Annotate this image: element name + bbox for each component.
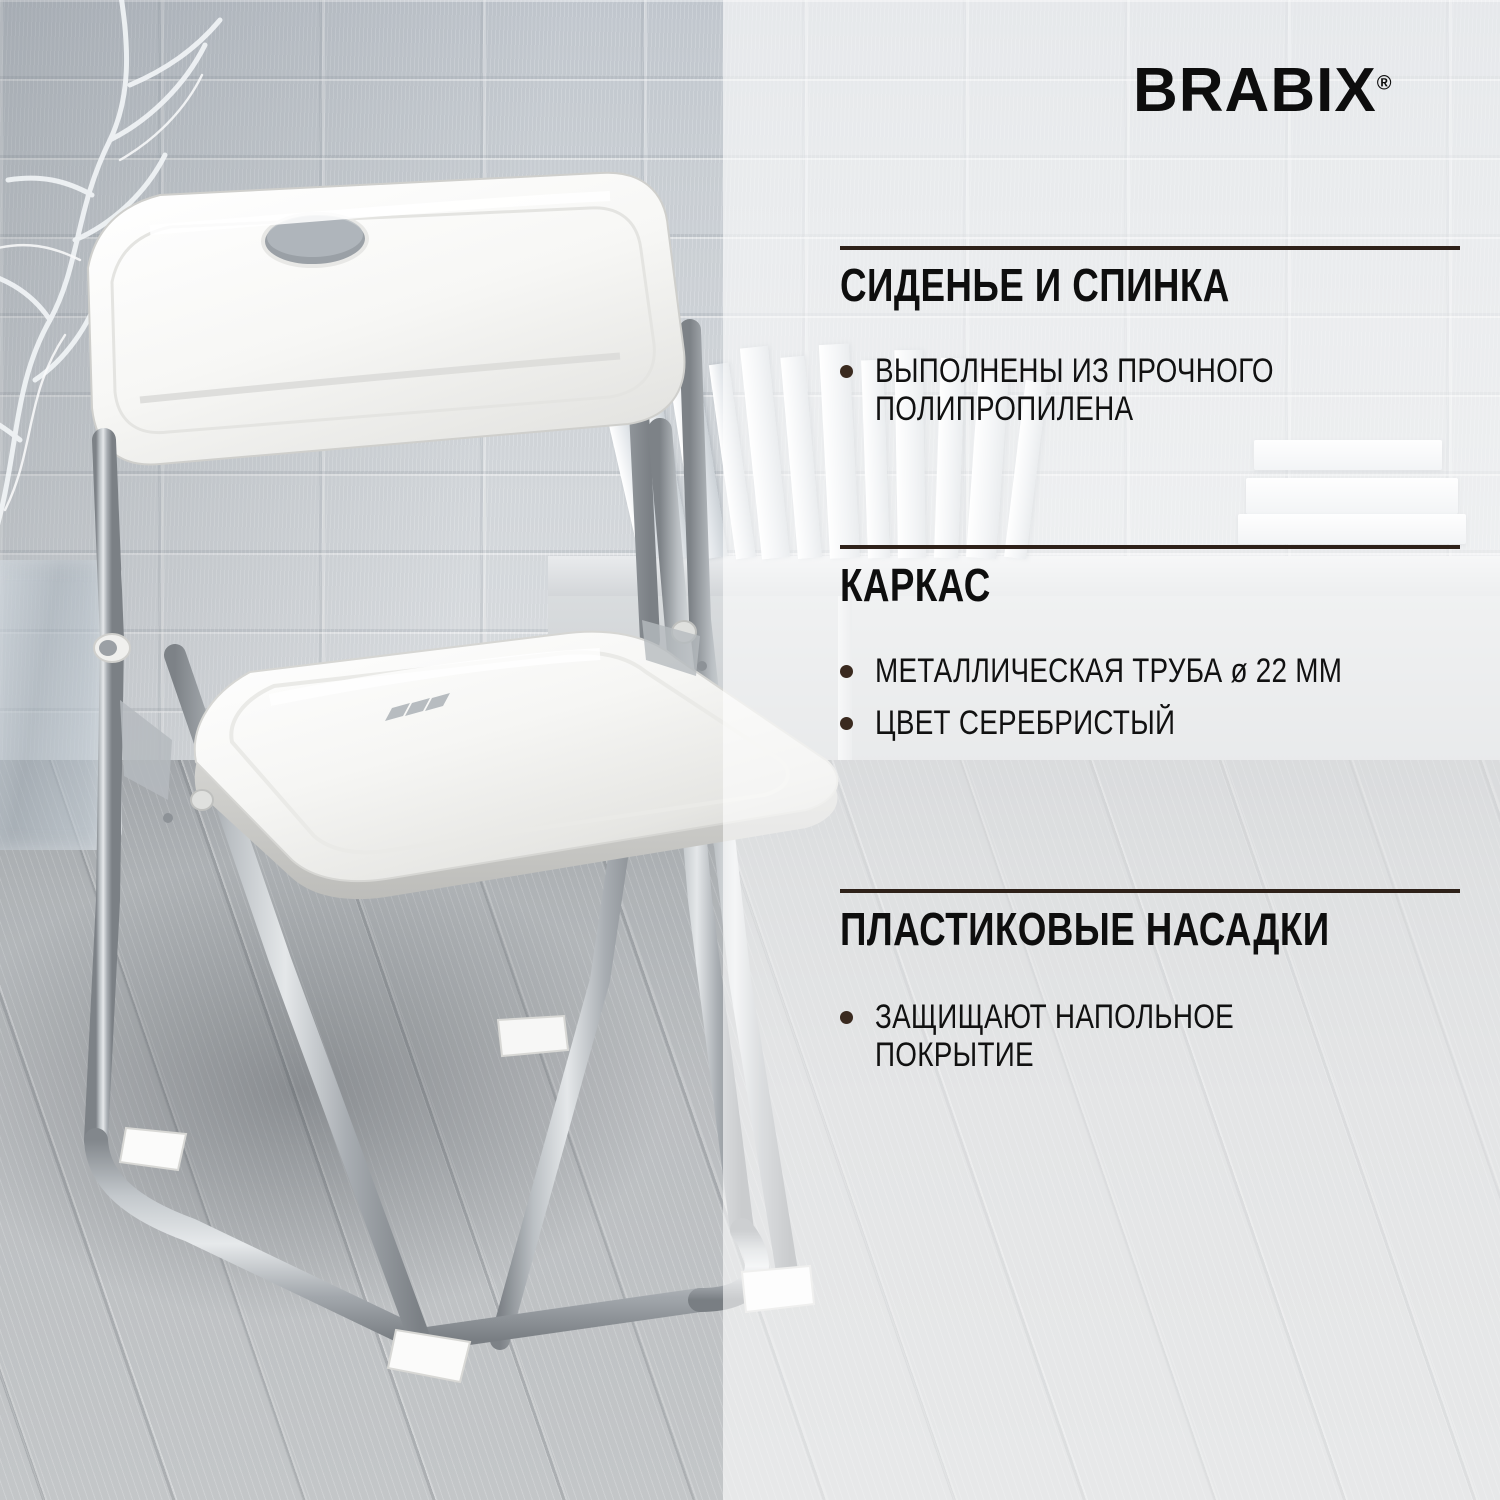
bullet-item: ЗАЩИЩАЮТ НАПОЛЬНОЕ ПОКРЫТИЕ [840,998,1500,1075]
bullet-dot-icon [840,1011,853,1024]
bullet-item: МЕТАЛЛИЧЕСКАЯ ТРУБА ø 22 ММ [840,652,1500,690]
section-rule-1 [840,246,1460,250]
bullet-text: ЦВЕТ СЕРЕБРИСТЫЙ [875,704,1175,742]
section-rule-3 [840,889,1460,893]
bullet-text: ЗАЩИЩАЮТ НАПОЛЬНОЕ ПОКРЫТИЕ [875,998,1388,1075]
bullet-dot-icon [840,665,853,678]
info-panel: BRABIX® СИДЕНЬЕ И СПИНКА ВЫПОЛНЕНЫ ИЗ ПР… [0,0,1500,1500]
bullet-text: ВЫПОЛНЕНЫ ИЗ ПРОЧНОГО ПОЛИПРОПИЛЕНА [875,352,1274,429]
registered-mark-icon: ® [1377,72,1392,94]
bullet-item: ЦВЕТ СЕРЕБРИСТЫЙ [840,704,1500,742]
section-rule-2 [840,545,1460,549]
section-heading-2: КАРКАС [840,562,991,608]
product-infographic: BRABIX® СИДЕНЬЕ И СПИНКА ВЫПОЛНЕНЫ ИЗ ПР… [0,0,1500,1500]
bullet-dot-icon [840,717,853,730]
bullet-dot-icon [840,365,853,378]
section-heading-1: СИДЕНЬЕ И СПИНКА [840,262,1230,308]
section-heading-3: ПЛАСТИКОВЫЕ НАСАДКИ [840,906,1330,952]
brabix-logo: BRABIX® [1133,55,1391,126]
bullet-item: ВЫПОЛНЕНЫ ИЗ ПРОЧНОГО ПОЛИПРОПИЛЕНА [840,352,1480,429]
bullet-text: МЕТАЛЛИЧЕСКАЯ ТРУБА ø 22 ММ [875,652,1342,690]
logo-text: BRABIX [1133,56,1377,125]
